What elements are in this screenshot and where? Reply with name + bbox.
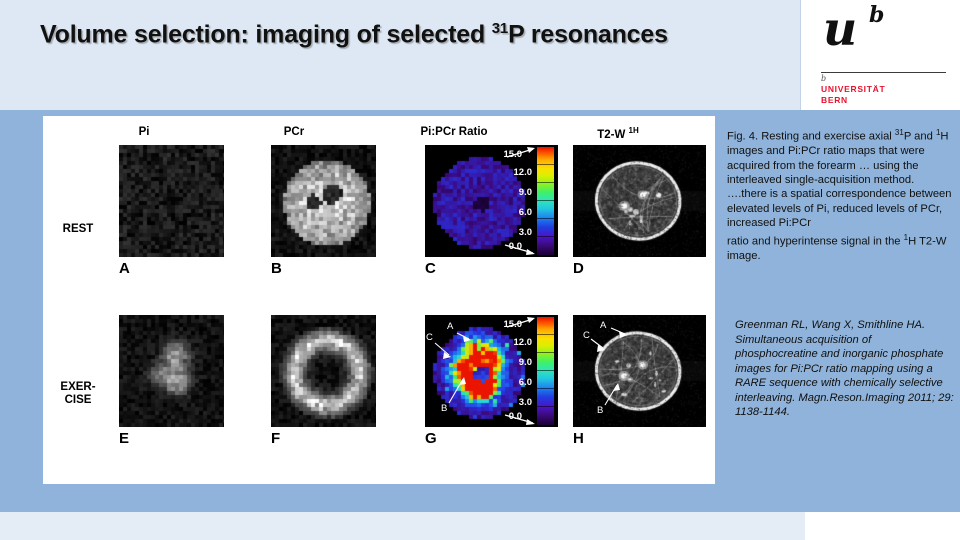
footer-band bbox=[0, 512, 805, 540]
annotation-h-a: A bbox=[600, 320, 606, 331]
colorbar-tick-0-rest: 0.0 bbox=[509, 241, 522, 252]
image-panel-e bbox=[119, 315, 224, 427]
colorbar-tick-6-rest: 6.0 bbox=[519, 207, 532, 218]
image-panel-d bbox=[573, 145, 706, 257]
caption-part4: ratio and hyperintense signal in the bbox=[727, 235, 904, 247]
image-panel-b bbox=[271, 145, 376, 257]
logo-b-glyph: b bbox=[869, 4, 884, 26]
panel-letter-a: A bbox=[119, 260, 130, 277]
annotation-h-c: C bbox=[583, 330, 590, 341]
colorbar-gradient-rest bbox=[537, 147, 554, 255]
reference-citation: Greenman RL, Wang X, Smithline HA. Simul… bbox=[735, 318, 957, 420]
column-header-ratio: Pi:PCr Ratio bbox=[379, 126, 529, 138]
column-header-pcr: PCr bbox=[229, 126, 359, 138]
page-title: Volume selection: imaging of selected 31… bbox=[40, 20, 780, 49]
panel-letter-h: H bbox=[573, 430, 584, 447]
panel-letter-e: E bbox=[119, 430, 129, 447]
column-header-pi: Pi bbox=[79, 126, 209, 138]
header-band bbox=[0, 0, 800, 110]
colorbar-tick-15-exercise: 15.0 bbox=[504, 319, 523, 330]
colorbar-tick-15-rest: 15.0 bbox=[504, 149, 523, 160]
logo-divider bbox=[821, 72, 946, 73]
colorbar-tick-9-exercise: 9.0 bbox=[519, 357, 532, 368]
image-panel-f bbox=[271, 315, 376, 427]
figure-panel: Pi PCr Pi:PCr Ratio T2-W 1H REST EXER- C… bbox=[43, 116, 715, 484]
caption-part3: H images and Pi:PCr ratio maps that were… bbox=[727, 131, 952, 229]
panel-letter-g: G bbox=[425, 430, 437, 447]
colorbar-tick-12-rest: 12.0 bbox=[514, 167, 533, 178]
logo-wordmark: UNIVERSITÄT BERN bbox=[821, 84, 885, 106]
page-title-suffix: P resonances bbox=[508, 20, 668, 48]
slide-root: Volume selection: imaging of selected 31… bbox=[0, 0, 960, 540]
colorbar-exercise: 15.0 12.0 9.0 6.0 3.0 0.0 A B C bbox=[425, 315, 558, 427]
logo-wordmark-line2: BERN bbox=[821, 95, 885, 106]
logo-u-glyph: u bbox=[823, 6, 857, 53]
annotations-panel-h: A B C bbox=[573, 315, 706, 427]
university-logo: u b b UNIVERSITÄT BERN bbox=[800, 0, 960, 110]
annotation-g-c: C bbox=[426, 332, 433, 343]
panel-letter-b: B bbox=[271, 260, 282, 277]
panel-letter-d: D bbox=[573, 260, 584, 277]
colorbar-tick-0-exercise: 0.0 bbox=[509, 411, 522, 422]
annotation-arrows-h bbox=[573, 315, 706, 427]
panel-letter-f: F bbox=[271, 430, 280, 447]
colorbar-tick-12-exercise: 12.0 bbox=[514, 337, 533, 348]
column-header-t2w: T2-W 1H bbox=[543, 126, 693, 141]
colorbar-rest: 15.0 12.0 9.0 6.0 3.0 0.0 bbox=[425, 145, 558, 257]
colorbar-tick-3-exercise: 3.0 bbox=[519, 397, 532, 408]
colorbar-gradient-exercise bbox=[537, 317, 554, 425]
figure-caption: Fig. 4. Resting and exercise axial 31P a… bbox=[727, 126, 955, 263]
page-title-prefix: Volume selection: imaging of selected bbox=[40, 20, 492, 48]
page-title-superscript: 31 bbox=[492, 20, 508, 37]
colorbar-tick-3-rest: 3.0 bbox=[519, 227, 532, 238]
caption-part1: Fig. 4. Resting and exercise axial bbox=[727, 131, 895, 143]
caption-sup-31: 31 bbox=[895, 128, 904, 137]
annotation-h-b: B bbox=[597, 405, 603, 416]
annotation-g-b: B bbox=[441, 403, 447, 414]
annotation-g-a: A bbox=[447, 321, 453, 332]
footer-right-block bbox=[805, 512, 960, 540]
caption-part2: P and bbox=[904, 131, 936, 143]
logo-wordmark-line1: UNIVERSITÄT bbox=[821, 84, 885, 95]
colorbar-tick-9-rest: 9.0 bbox=[519, 187, 532, 198]
image-panel-a bbox=[119, 145, 224, 257]
panel-letter-c: C bbox=[425, 260, 436, 277]
row-label-exercise: EXER- CISE bbox=[47, 381, 109, 407]
logo-small-b-glyph: b bbox=[821, 74, 826, 83]
colorbar-tick-6-exercise: 6.0 bbox=[519, 377, 532, 388]
row-label-rest: REST bbox=[47, 223, 109, 236]
